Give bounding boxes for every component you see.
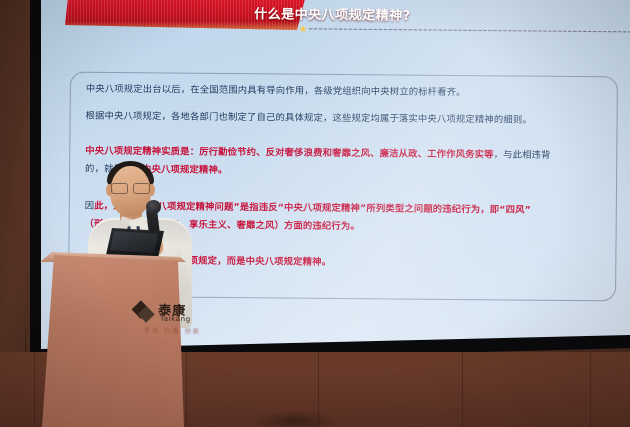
laptop-screen xyxy=(110,231,158,253)
podium-logo: 泰康 Taikang 专业 价值 创新 xyxy=(131,299,218,343)
microphone-icon xyxy=(146,200,161,214)
normal-run: ，与此相违背 xyxy=(494,150,551,162)
presentation-photo: 什么是中央八项规定精神? 中央八项规定出台以后，在全国范围内具有导向作用，各级党… xyxy=(0,0,630,427)
logo-english-name: Taikang xyxy=(160,315,191,324)
star-icon xyxy=(299,25,307,33)
glasses-icon xyxy=(111,183,150,192)
banner-dot-rule xyxy=(309,28,630,32)
floor-shadow xyxy=(250,410,340,427)
logo-tagline: 专业 价值 创新 xyxy=(144,325,202,336)
taikang-diamond-icon xyxy=(132,301,155,324)
